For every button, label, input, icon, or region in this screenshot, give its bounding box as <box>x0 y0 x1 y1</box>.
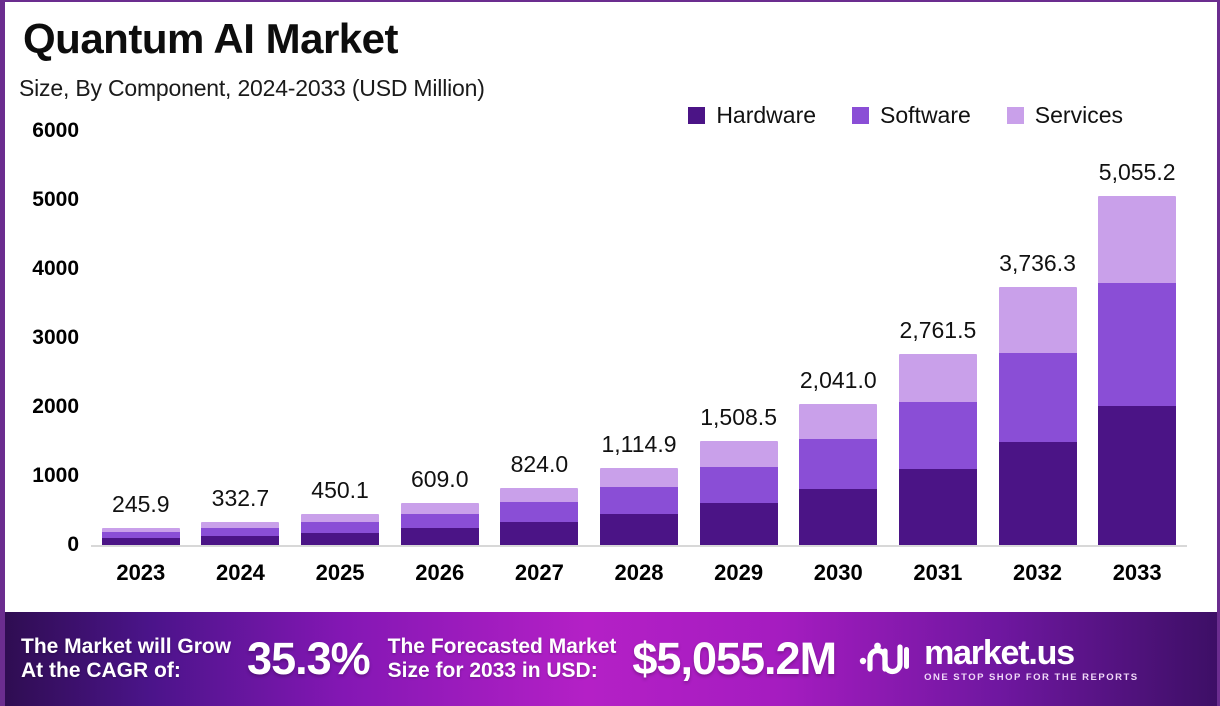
bar-segment-hardware-2026[interactable] <box>401 528 479 545</box>
bar-group-2032[interactable] <box>999 287 1077 545</box>
bar-group-2029[interactable] <box>700 441 778 545</box>
x-axis-tick-label-2025: 2025 <box>285 560 395 586</box>
bar-group-2025[interactable] <box>301 514 379 545</box>
bar-segment-software-2027[interactable] <box>500 502 578 522</box>
bar-segment-hardware-2023[interactable] <box>102 538 180 545</box>
bar-segment-software-2031[interactable] <box>899 402 977 469</box>
market-us-logo[interactable]: market.us ONE STOP SHOP FOR THE REPORTS <box>858 636 1139 683</box>
bar-total-label-2026: 609.0 <box>411 466 469 493</box>
bar-segment-services-2028[interactable] <box>600 468 678 487</box>
bar-segment-software-2033[interactable] <box>1098 283 1176 406</box>
y-axis-tick-label: 4000 <box>5 257 79 281</box>
bar-total-label-2033: 5,055.2 <box>1099 159 1176 186</box>
bar-total-label-2027: 824.0 <box>511 451 569 478</box>
y-axis-tick-label: 5000 <box>5 188 79 212</box>
bar-total-label-2029: 1,508.5 <box>700 404 777 431</box>
bar-segment-software-2028[interactable] <box>600 487 678 514</box>
bar-group-2031[interactable] <box>899 354 977 545</box>
bar-group-2028[interactable] <box>600 468 678 545</box>
cagr-caption-line1: The Market will Grow <box>21 635 231 659</box>
bar-segment-software-2024[interactable] <box>201 528 279 536</box>
logo-wordmark: market.us <box>924 636 1139 670</box>
bar-segment-software-2026[interactable] <box>401 514 479 529</box>
bar-total-label-2028: 1,114.9 <box>601 431 676 458</box>
cagr-block: The Market will Grow At the CAGR of: 35.… <box>21 633 370 685</box>
bar-group-2033[interactable] <box>1098 196 1176 545</box>
y-axis-tick-label: 2000 <box>5 395 79 419</box>
bar-segment-services-2033[interactable] <box>1098 196 1176 283</box>
bar-segment-hardware-2024[interactable] <box>201 536 279 545</box>
bar-segment-software-2030[interactable] <box>799 439 877 488</box>
bar-group-2030[interactable] <box>799 404 877 545</box>
x-axis-tick-label-2030: 2030 <box>783 560 893 586</box>
bar-segment-services-2032[interactable] <box>999 287 1077 353</box>
x-axis-tick-label-2023: 2023 <box>86 560 196 586</box>
bar-segment-software-2029[interactable] <box>700 467 778 503</box>
summary-banner: The Market will Grow At the CAGR of: 35.… <box>5 612 1217 706</box>
plot-area: 0100020003000400050006000 245.9332.7450.… <box>5 2 1220 602</box>
y-axis-tick-label: 6000 <box>5 119 79 143</box>
bar-group-2023[interactable] <box>102 528 180 545</box>
bar-total-label-2023: 245.9 <box>112 491 170 518</box>
bar-segment-hardware-2027[interactable] <box>500 522 578 545</box>
bar-segment-services-2030[interactable] <box>799 404 877 439</box>
bar-segment-hardware-2031[interactable] <box>899 469 977 545</box>
bar-segment-hardware-2029[interactable] <box>700 503 778 545</box>
logo-tagline: ONE STOP SHOP FOR THE REPORTS <box>924 673 1139 683</box>
forecast-caption: The Forecasted Market Size for 2033 in U… <box>388 635 617 682</box>
bar-segment-hardware-2025[interactable] <box>301 533 379 545</box>
chart-infographic: Quantum AI Market Size, By Component, 20… <box>0 0 1220 706</box>
bar-segment-hardware-2033[interactable] <box>1098 406 1176 545</box>
y-axis-tick-label: 0 <box>5 533 79 557</box>
y-axis-tick-label: 1000 <box>5 464 79 488</box>
x-axis-tick-label-2029: 2029 <box>684 560 794 586</box>
bar-segment-hardware-2032[interactable] <box>999 442 1077 545</box>
bar-group-2024[interactable] <box>201 522 279 545</box>
bar-series-container: 245.9332.7450.1609.0824.01,114.91,508.52… <box>91 122 1187 545</box>
x-axis-tick-label-2031: 2031 <box>883 560 993 586</box>
bar-total-label-2025: 450.1 <box>311 477 369 504</box>
x-axis-tick-label-2028: 2028 <box>584 560 694 586</box>
bar-total-label-2031: 2,761.5 <box>900 317 977 344</box>
bar-total-label-2032: 3,736.3 <box>999 250 1076 277</box>
bar-total-label-2030: 2,041.0 <box>800 367 877 394</box>
x-axis-tick-label-2032: 2032 <box>983 560 1093 586</box>
logo-text: market.us ONE STOP SHOP FOR THE REPORTS <box>924 636 1139 683</box>
bar-segment-hardware-2028[interactable] <box>600 514 678 545</box>
x-axis-line <box>91 545 1187 547</box>
cagr-value: 35.3% <box>247 633 370 685</box>
bar-group-2027[interactable] <box>500 488 578 545</box>
y-axis-tick-label: 3000 <box>5 326 79 350</box>
bar-segment-services-2031[interactable] <box>899 354 977 402</box>
forecast-value: $5,055.2M <box>632 633 836 685</box>
bar-segment-services-2026[interactable] <box>401 503 479 514</box>
cagr-caption-line2: At the CAGR of: <box>21 659 231 683</box>
forecast-caption-line1: The Forecasted Market <box>388 635 617 659</box>
bar-segment-services-2025[interactable] <box>301 514 379 522</box>
bar-segment-hardware-2030[interactable] <box>799 489 877 545</box>
x-axis-tick-label-2027: 2027 <box>484 560 594 586</box>
forecast-caption-line2: Size for 2033 in USD: <box>388 659 617 683</box>
bar-segment-software-2025[interactable] <box>301 522 379 533</box>
x-axis-tick-label-2024: 2024 <box>185 560 295 586</box>
cagr-caption: The Market will Grow At the CAGR of: <box>21 635 231 682</box>
bar-segment-services-2029[interactable] <box>700 441 778 467</box>
x-axis-tick-label-2026: 2026 <box>385 560 495 586</box>
bar-total-label-2024: 332.7 <box>212 485 270 512</box>
bar-segment-services-2027[interactable] <box>500 488 578 502</box>
bar-group-2026[interactable] <box>401 503 479 545</box>
x-axis-tick-label-2033: 2033 <box>1082 560 1192 586</box>
bar-segment-software-2032[interactable] <box>999 353 1077 442</box>
market-us-mark-icon <box>858 637 914 682</box>
forecast-block: The Forecasted Market Size for 2033 in U… <box>388 633 836 685</box>
